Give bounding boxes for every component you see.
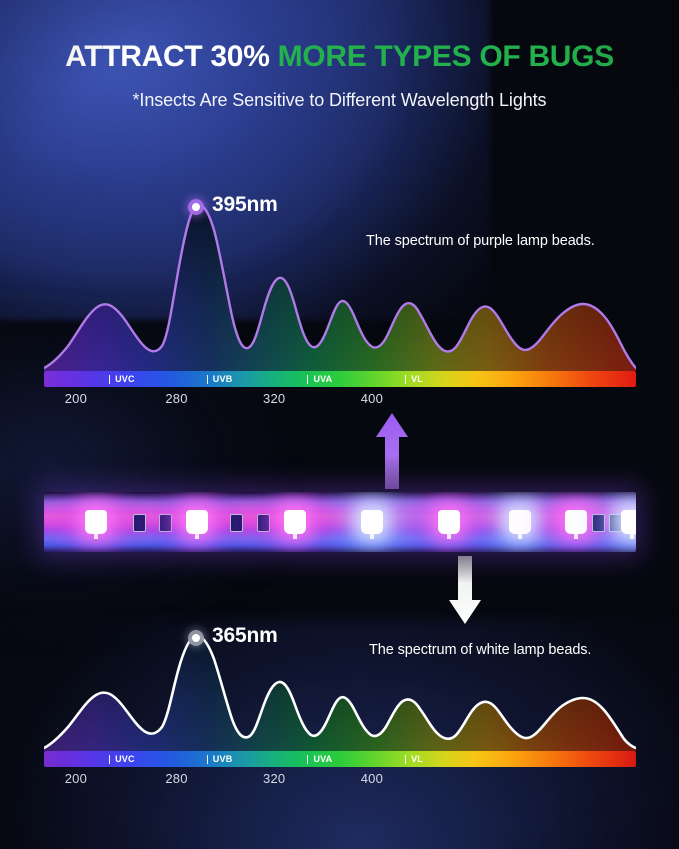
headline: ATTRACT 30% MORE TYPES OF BUGS — [0, 40, 679, 74]
band-tick-uvb — [207, 375, 208, 384]
led-bead-purple-1 — [85, 510, 107, 534]
led-bead-white-2 — [509, 510, 531, 534]
band-label-uvb: UVB — [213, 754, 233, 764]
tick-320: 320 — [263, 771, 285, 786]
led-lead — [195, 533, 199, 539]
spectrum-curve-purple-svg — [44, 196, 636, 371]
plot-area-purple: 395nm The spectrum of purple lamp beads. — [44, 196, 636, 371]
uv-led-light-strip — [44, 492, 636, 552]
resistor-1 — [133, 514, 146, 532]
tick-320: 320 — [263, 391, 285, 406]
spectrum-chart-white: 365nm The spectrum of white lamp beads. … — [44, 631, 636, 806]
led-bead-purple-5 — [565, 510, 587, 534]
tick-400: 400 — [361, 391, 383, 406]
band-tick-uva — [307, 755, 308, 764]
tick-row-purple: 200 280 320 400 — [44, 391, 636, 413]
peak-label-white: 365nm — [212, 624, 278, 648]
arrow-down-to-white-spectrum-icon — [447, 556, 483, 626]
plot-area-white: 365nm The spectrum of white lamp beads. — [44, 631, 636, 751]
band-tick-uvc — [109, 375, 110, 384]
tick-280: 280 — [165, 771, 187, 786]
led-lead — [370, 533, 374, 539]
headline-green-text: MORE TYPES OF BUGS — [278, 40, 614, 73]
led-lead — [293, 533, 297, 539]
resistor-3 — [230, 514, 243, 532]
band-label-uvc: UVC — [115, 754, 135, 764]
tick-200: 200 — [65, 771, 87, 786]
headline-white-text: ATTRACT 30% — [65, 40, 278, 73]
caption-purple-spectrum: The spectrum of purple lamp beads. — [366, 233, 595, 249]
band-tick-uvc — [109, 755, 110, 764]
spectrum-chart-purple: 395nm The spectrum of purple lamp beads.… — [44, 196, 636, 411]
band-label-vl: VL — [411, 374, 423, 384]
band-label-uva: UVA — [313, 754, 332, 764]
subheadline: *Insects Are Sensitive to Different Wave… — [0, 90, 679, 111]
band-tick-uvb — [207, 755, 208, 764]
led-lead — [447, 533, 451, 539]
peak-label-purple: 395nm — [212, 193, 278, 217]
tick-280: 280 — [165, 391, 187, 406]
led-bead-purple-2 — [186, 510, 208, 534]
band-label-uvb: UVB — [213, 374, 233, 384]
tick-200: 200 — [65, 391, 87, 406]
resistor-4 — [257, 514, 270, 532]
led-lead — [630, 533, 634, 539]
arrow-up-to-purple-spectrum-icon — [374, 411, 410, 489]
band-tick-vl — [405, 375, 406, 384]
led-bead-white-3 — [621, 510, 636, 534]
spectrum-bar-white: UVC UVB UVA VL — [44, 751, 636, 767]
led-lead — [574, 533, 578, 539]
tick-400: 400 — [361, 771, 383, 786]
band-label-uva: UVA — [313, 374, 332, 384]
band-tick-vl — [405, 755, 406, 764]
led-bead-purple-3 — [284, 510, 306, 534]
infographic-page: ATTRACT 30% MORE TYPES OF BUGS *Insects … — [0, 0, 679, 849]
spectrum-bar-purple: UVC UVB UVA VL — [44, 371, 636, 387]
tick-row-white: 200 280 320 400 — [44, 771, 636, 793]
peak-marker-purple — [188, 199, 204, 215]
band-label-vl: VL — [411, 754, 423, 764]
led-bead-purple-4 — [438, 510, 460, 534]
resistor-5 — [592, 514, 605, 532]
resistor-2 — [159, 514, 172, 532]
band-label-uvc: UVC — [115, 374, 135, 384]
caption-white-spectrum: The spectrum of white lamp beads. — [369, 642, 591, 658]
led-bead-white-1 — [361, 510, 383, 534]
peak-marker-white — [188, 630, 204, 646]
band-tick-uva — [307, 375, 308, 384]
led-lead — [94, 533, 98, 539]
led-lead — [518, 533, 522, 539]
